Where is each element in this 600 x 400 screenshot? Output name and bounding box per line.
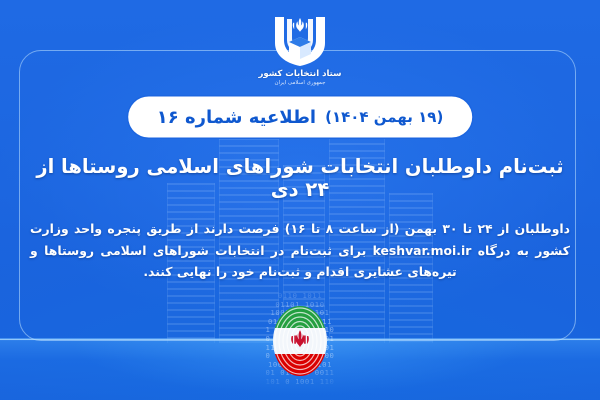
body-paragraph: داوطلبان از ۲۴ تا ۳۰ بهمن (از ساعت ۸ تا … — [30, 218, 570, 282]
header-logo-group: ستاد انتخابات کشور جمهوری اسلامی ایران — [0, 10, 600, 86]
logo-caption-sub: جمهوری اسلامی ایران — [274, 80, 325, 86]
page-title: ثبت‌نام داوطلبان انتخابات شوراهای اسلامی… — [0, 155, 600, 201]
logo-caption: ستاد انتخابات کشور — [259, 70, 342, 79]
announcement-date: (۱۹ بهمن ۱۴۰۴) — [325, 108, 443, 126]
announcement-title: اطلاعیه شماره ۱۶ — [157, 107, 316, 128]
fingerprint-iran-emblem: 0110 101101101 10101001 01 11010110 10 0… — [246, 292, 354, 388]
announcement-pill: (۱۹ بهمن ۱۴۰۴) اطلاعیه شماره ۱۶ — [131, 99, 470, 135]
poster-canvas: ستاد انتخابات کشور جمهوری اسلامی ایران (… — [0, 0, 600, 400]
election-headquarters-logo-icon — [263, 10, 337, 68]
registration-portal-url: keshvar.moi.ir — [373, 240, 472, 261]
fingerprint-icon — [266, 302, 334, 380]
